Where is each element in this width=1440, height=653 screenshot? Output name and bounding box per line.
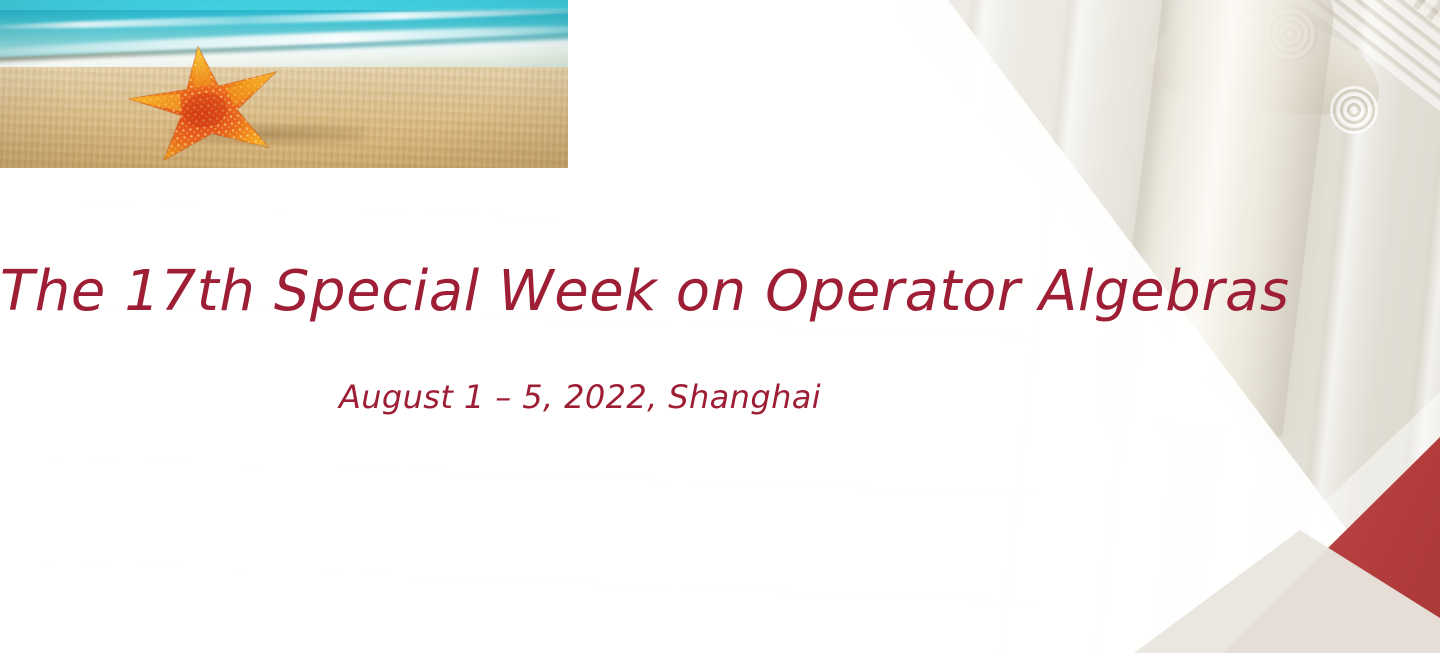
starfish-beach-photo [0,0,568,168]
slide-subtitle: August 1 – 5, 2022, Shanghai [0,380,1160,415]
photo-vignette [0,0,568,168]
subtitle-block: August 1 – 5, 2022, Shanghai [0,380,1160,415]
presentation-slide: The 17th Special Week on Operator Algebr… [0,0,1440,653]
title-block: The 17th Special Week on Operator Algebr… [0,262,1215,322]
page-title: The 17th Special Week on Operator Algebr… [0,262,1215,322]
